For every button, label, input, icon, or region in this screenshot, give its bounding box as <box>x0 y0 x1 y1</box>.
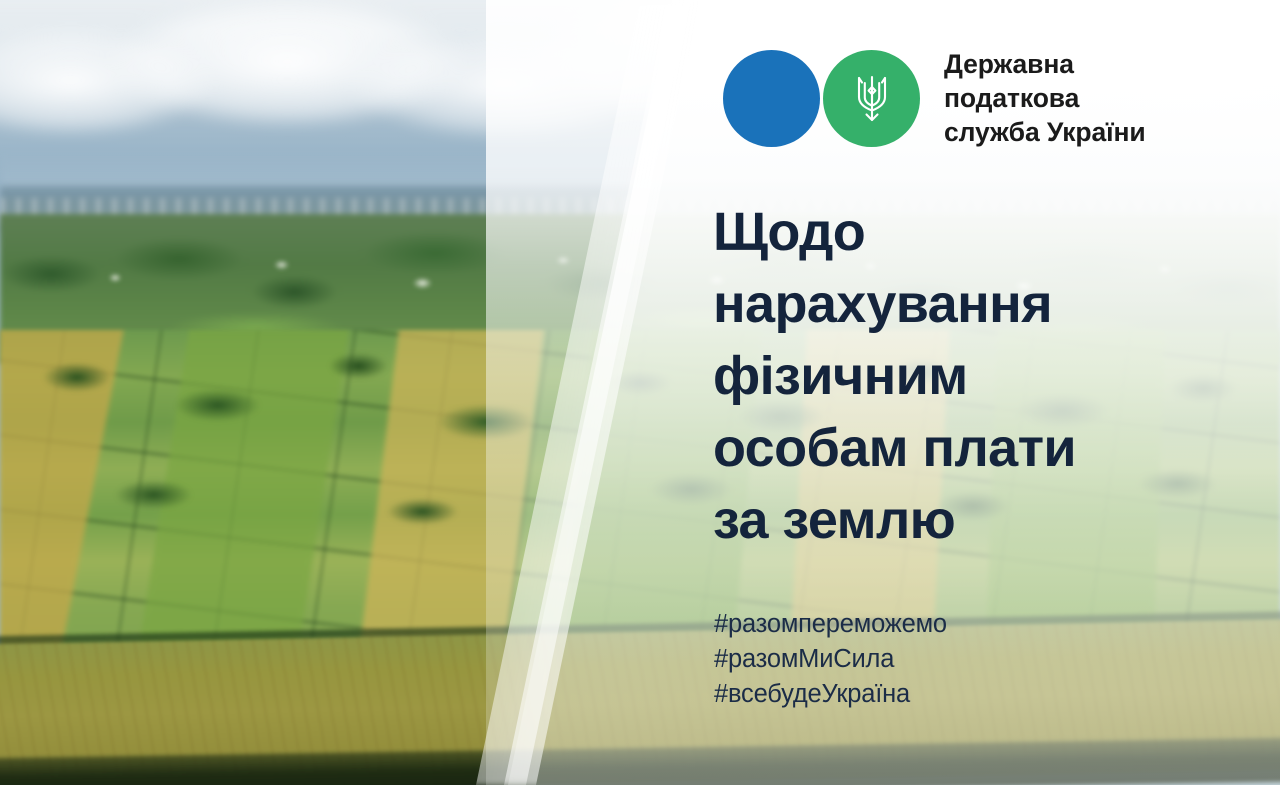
headline-line-3: фізичним <box>713 340 1193 412</box>
logo-text-block: Державна податкова служба України <box>944 47 1146 149</box>
hashtag-1[interactable]: #разомпереможемо <box>714 607 947 642</box>
headline-line-5: за землю <box>713 484 1193 556</box>
headline: Щодо нарахування фізичним особам плати з… <box>713 196 1193 556</box>
hashtag-block: #разомпереможемо #разомМиСила #всебудеУк… <box>714 607 947 712</box>
logo-text-line-2: податкова <box>944 81 1146 115</box>
hashtag-2[interactable]: #разомМиСила <box>714 642 947 677</box>
blue-circle-icon <box>723 50 820 147</box>
logo-text-line-1: Державна <box>944 47 1146 81</box>
hashtag-3[interactable]: #всебудеУкраїна <box>714 677 947 712</box>
headline-line-4: особам плати <box>713 412 1193 484</box>
poster: Державна податкова служба України Щодо н… <box>0 0 1280 785</box>
logo-text-line-3: служба України <box>944 115 1146 149</box>
headline-line-1: Щодо <box>713 196 1193 268</box>
trident-icon <box>850 70 894 126</box>
logo-marks <box>723 50 920 147</box>
green-circle-icon <box>823 50 920 147</box>
agency-logo: Державна податкова служба України <box>723 47 1146 149</box>
headline-line-2: нарахування <box>713 268 1193 340</box>
content-column: Державна податкова служба України Щодо н… <box>713 0 1253 785</box>
